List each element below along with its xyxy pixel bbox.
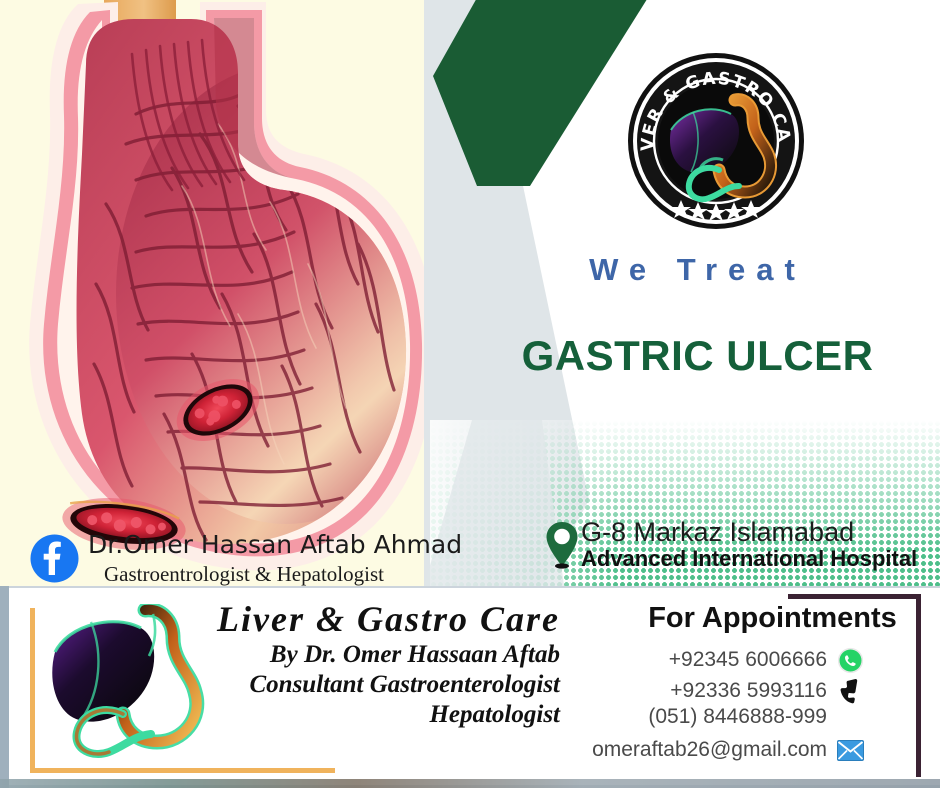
banner-bottom-strip [0,779,940,788]
liver-stomach-logo-icon [45,604,220,759]
clinic-role-1: Consultant Gastroenterologist [215,671,560,699]
address-line-2: Advanced International Hospital [581,547,917,571]
clinic-address: G-8 Markaz Islamabad Advanced Internatio… [545,518,917,571]
appointment-row-landline[interactable]: (051) 8446888-999 [600,705,865,729]
clinic-role-2: Hepatologist [215,701,560,729]
condition-heading: GASTRIC ULCER [455,332,940,380]
whatsapp-icon[interactable] [835,645,865,675]
landline-number: (051) 8446888-999 [648,705,827,729]
appointment-row-email[interactable]: omeraftab26@gmail.com [600,735,865,765]
facebook-icon[interactable] [30,534,79,583]
whatsapp-number: +92345 6006666 [669,648,827,672]
poster-top-section: LIVER & GASTRO CARE We Treat GASTRIC ULC… [0,0,940,586]
clinic-byline: By Dr. Omer Hassaan Aftab [215,641,560,669]
location-pin-icon [545,520,579,570]
gastric-ulcer-poster: LIVER & GASTRO CARE We Treat GASTRIC ULC… [0,0,940,788]
email-address: omeraftab26@gmail.com [592,738,827,762]
appointments-title: For Appointments [640,602,905,635]
we-treat-heading: We Treat [455,252,940,288]
doctor-name: Dr.Omer Hassan Aftab Ahmad [88,530,462,559]
appointment-row-phone[interactable]: +92336 5993116 [600,676,865,706]
phone-number: +92336 5993116 [670,679,827,703]
address-line-1: G-8 Markaz Islamabad [581,518,917,546]
liver-gastro-care-badge: LIVER & GASTRO CARE [627,52,805,230]
doctor-title: Gastroentrologist & Hepatologist [104,562,384,586]
clinic-name: Liver & Gastro Care [215,598,560,640]
phone-icon[interactable] [835,676,865,706]
email-icon[interactable] [835,735,865,765]
appointment-row-whatsapp[interactable]: +92345 6006666 [600,645,865,675]
stomach-cross-section-illustration [0,0,456,586]
banner-left-strip [0,586,9,788]
